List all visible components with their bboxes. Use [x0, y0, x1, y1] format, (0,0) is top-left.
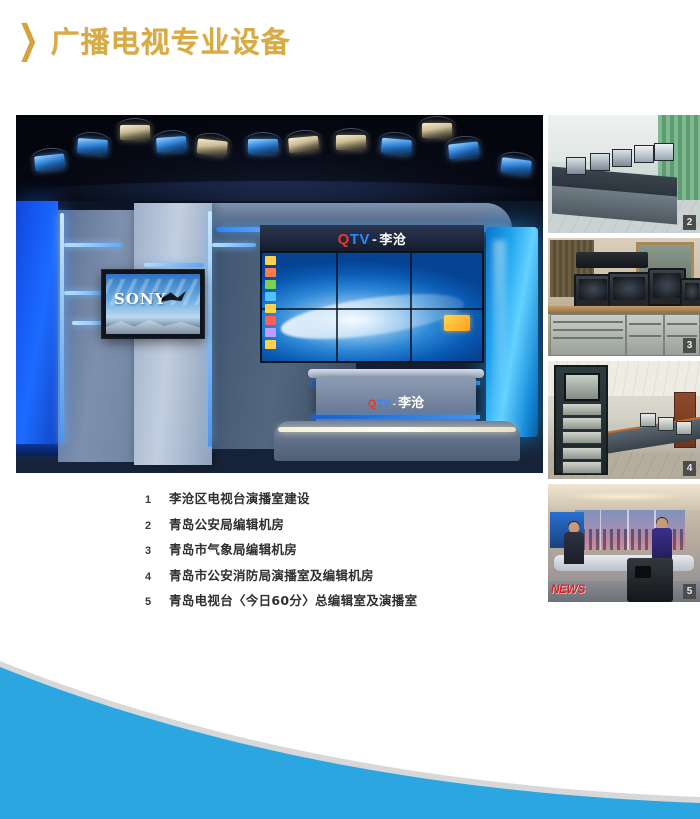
desk-neon-stripe [312, 415, 480, 419]
crt-monitor-icon [574, 274, 612, 308]
video-wall-display[interactable] [260, 251, 484, 363]
anchor-person [652, 518, 672, 560]
monitor-icon [612, 149, 632, 167]
studio-light-icon [77, 138, 108, 155]
caption-number: 4 [145, 571, 169, 583]
cyan-light-column [486, 227, 538, 437]
studio-light-icon [248, 139, 278, 154]
caption-item: 4 青岛市公安消防局演播室及编辑机房 [145, 565, 525, 584]
studio-light-icon [120, 125, 150, 140]
caption-number: 3 [145, 545, 169, 557]
crt-monitor-icon [608, 272, 650, 308]
caption-item: 5 青岛电视台〈今日60分〉总编辑室及演播室 [145, 590, 525, 609]
caption-item: 1 李沧区电视台演播室建设 [145, 488, 525, 507]
studio-light-icon [34, 153, 65, 171]
sony-monitor[interactable]: SONY [102, 270, 204, 338]
videowall-seam [336, 253, 338, 361]
logo-q: Q [338, 231, 350, 248]
thumb-crt-monitor-room[interactable]: 3 [548, 238, 700, 356]
logo-tv: TV [376, 398, 390, 410]
caption-number: 5 [145, 596, 169, 608]
blue-light-pillar [16, 201, 58, 446]
neon-strip [212, 243, 256, 247]
chevron-right-icon: ❯ [17, 20, 37, 59]
thumb-rack-control-room[interactable]: 4 [548, 361, 700, 479]
windows-logo-icon [444, 315, 470, 331]
monitor-icon [676, 421, 692, 435]
monitor-icon [654, 143, 674, 161]
studio-light-icon [381, 138, 412, 156]
caption-label: 青岛市公安消防局演播室及编辑机房 [169, 565, 374, 584]
caption-number: 2 [145, 520, 169, 532]
rack-deck-unit [576, 252, 648, 268]
caption-label: 青岛公安局编辑机房 [169, 514, 284, 533]
neon-strip [64, 291, 106, 295]
news-logo-text: NEWS [551, 582, 585, 596]
neon-strip [60, 213, 64, 443]
crt-monitor-icon [680, 278, 700, 308]
logo-cn-name: 李沧 [379, 232, 406, 247]
studio-light-icon [156, 136, 187, 153]
monitor-icon [658, 417, 674, 431]
neon-strip [64, 243, 122, 247]
caption-label: 青岛市气象局编辑机房 [169, 539, 297, 558]
studio-ceiling [548, 484, 700, 510]
rack-monitor-icon [564, 373, 600, 401]
studio-light-icon [197, 138, 228, 156]
podium-edge-light [278, 427, 516, 432]
monitor-icon [640, 413, 656, 427]
caption-list: 1 李沧区电视台演播室建设 2 青岛公安局编辑机房 3 青岛市气象局编辑机房 4… [145, 488, 525, 616]
page-header: ❯ 广播电视专业设备 [0, 0, 700, 80]
logo-cn-name: 李沧 [398, 395, 424, 410]
bottom-wave-decoration [0, 619, 700, 819]
logo-dash: - [372, 231, 378, 248]
monitor-icon [590, 153, 610, 171]
caption-label: 青岛电视台〈今日60分〉总编辑室及演播室 [169, 590, 417, 609]
thumb-badge: 3 [683, 338, 696, 353]
studio-light-icon [288, 136, 319, 154]
thumb-editing-room[interactable]: 2 [548, 115, 700, 233]
studio-ceiling [16, 115, 543, 201]
mountain-range [106, 318, 200, 334]
logo-dash: - [392, 398, 396, 410]
equipment-rack [626, 314, 664, 356]
tv-studio-main-photo[interactable]: QTV-李沧 QTV-李沧 SONY [16, 115, 543, 473]
caption-item: 2 青岛公安局编辑机房 [145, 514, 525, 533]
thumb-badge: 5 [683, 584, 696, 599]
thumb-badge: 4 [683, 461, 696, 476]
studio-light-icon [336, 135, 366, 150]
sony-monitor-screen: SONY [106, 274, 200, 334]
equipment-rack [550, 314, 626, 356]
studio-camera [627, 558, 673, 602]
videowall-seam [262, 308, 482, 310]
thumb-news-studio[interactable]: NEWS 5 [548, 484, 700, 602]
logo-tv: TV [350, 231, 370, 248]
equipment-rack-cabinet [554, 365, 608, 475]
caption-number: 1 [145, 494, 169, 506]
desktop-icons [265, 256, 281, 360]
neon-strip [144, 263, 204, 267]
page-title: 广播电视专业设备 [51, 19, 291, 61]
anchor-person [564, 522, 584, 564]
studio-wall-logo-banner: QTV-李沧 [260, 225, 484, 252]
monitor-icon [566, 157, 586, 175]
neon-strip [208, 211, 212, 447]
caption-label: 李沧区电视台演播室建设 [169, 488, 310, 507]
caption-item: 3 青岛市气象局编辑机房 [145, 539, 525, 558]
studio-light-icon [422, 123, 452, 138]
sony-brand-text: SONY [114, 290, 166, 308]
studio-light-icon [448, 141, 479, 159]
monitor-icon [634, 145, 654, 163]
videowall-seam [410, 253, 412, 361]
thumb-badge: 2 [683, 215, 696, 230]
